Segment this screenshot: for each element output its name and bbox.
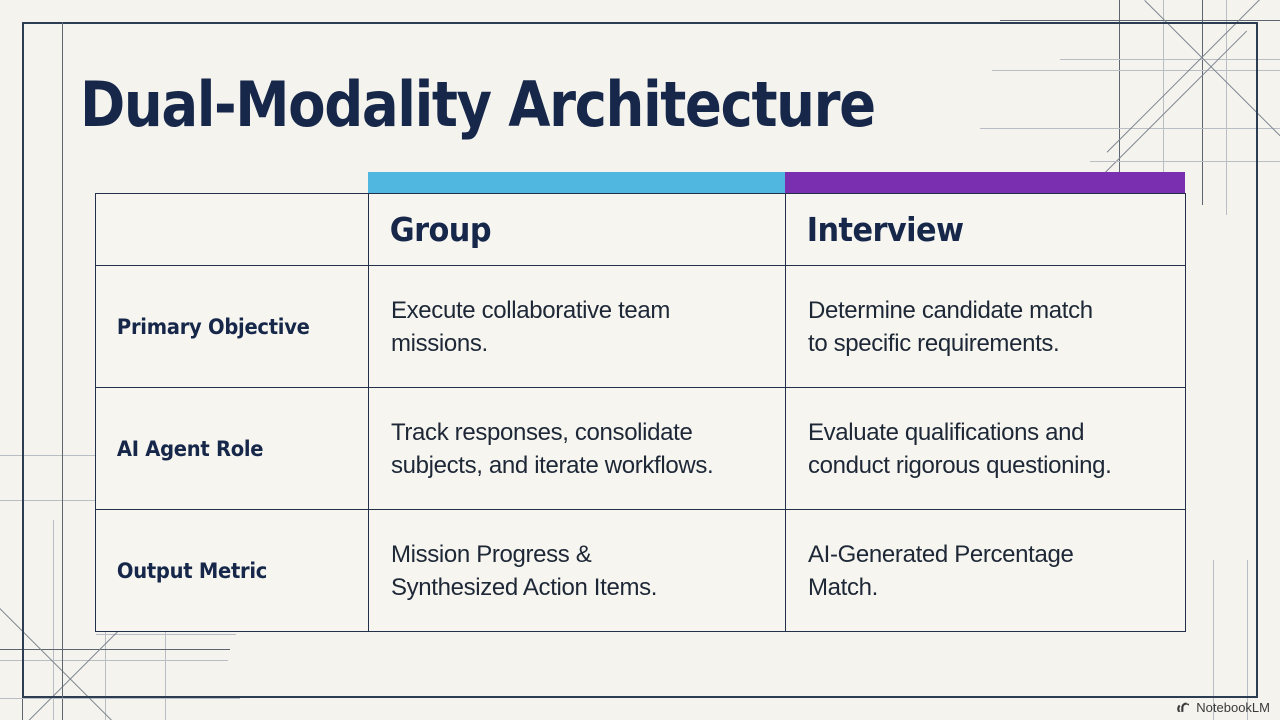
bp-line [0, 500, 96, 501]
accent-bar-interview [785, 172, 1185, 193]
bp-diagonal [1144, 0, 1280, 142]
bp-line [1247, 560, 1248, 720]
cell-line: conduct rigorous questioning. [808, 449, 1163, 482]
table-row: Output Metric Mission Progress & Synthes… [96, 510, 1186, 632]
bp-line [980, 128, 1280, 129]
bp-line [165, 630, 166, 720]
bp-diagonal [1107, 0, 1270, 153]
bp-line [0, 698, 240, 699]
cell-line: subjects, and iterate workflows. [391, 449, 763, 482]
cell-line: Execute collaborative team [391, 294, 763, 327]
table-row: Primary Objective Execute collaborative … [96, 266, 1186, 388]
bp-line [1226, 0, 1227, 215]
bp-diagonal [1105, 31, 1247, 173]
bp-line [1213, 560, 1214, 720]
cell-interview-output-metric: AI-Generated Percentage Match. [786, 510, 1186, 632]
cell-line: AI-Generated Percentage [808, 538, 1163, 571]
cell-line: Mission Progress & [391, 538, 763, 571]
bp-line [1119, 0, 1120, 200]
column-header-interview: Interview [786, 194, 1154, 266]
bp-line [0, 455, 96, 456]
watermark-label: NotebookLM [1196, 700, 1270, 715]
bp-line [992, 70, 1280, 71]
row-label-primary-objective: Primary Objective [96, 266, 350, 388]
bp-line [0, 660, 228, 661]
bp-line [1090, 161, 1280, 162]
cell-group-primary-objective: Execute collaborative team missions. [369, 266, 786, 388]
cell-interview-ai-agent-role: Evaluate qualifications and conduct rigo… [786, 388, 1186, 510]
bp-line [1000, 20, 1280, 21]
cell-line: Track responses, consolidate [391, 416, 763, 449]
page-title: Dual-Modality Architecture [80, 68, 875, 142]
cell-group-ai-agent-role: Track responses, consolidate subjects, a… [369, 388, 786, 510]
notebooklm-spiral-icon [1176, 700, 1191, 715]
comparison-table: Group Interview Primary Objective Execut… [95, 193, 1185, 630]
column-header-group: Group [369, 194, 753, 266]
cell-line: Determine candidate match [808, 294, 1163, 327]
bp-line [1060, 59, 1280, 60]
row-label-ai-agent-role: AI Agent Role [96, 388, 350, 510]
slide-canvas: Dual-Modality Architecture Group Intervi… [0, 0, 1280, 720]
row-label-output-metric: Output Metric [96, 510, 350, 632]
cell-line: Match. [808, 571, 1163, 604]
bp-line [22, 500, 23, 720]
watermark: NotebookLM [1176, 700, 1270, 715]
table-header-row: Group Interview [96, 194, 1186, 266]
bp-line [96, 634, 236, 635]
slide-frame-inner-rule [62, 22, 63, 698]
table-corner-cell [96, 194, 369, 266]
cell-interview-primary-objective: Determine candidate match to specific re… [786, 266, 1186, 388]
bp-line [53, 520, 54, 720]
cell-line: to specific requirements. [808, 327, 1163, 360]
bp-line [0, 649, 230, 650]
cell-group-output-metric: Mission Progress & Synthesized Action It… [369, 510, 786, 632]
cell-line: Evaluate qualifications and [808, 416, 1163, 449]
table-row: AI Agent Role Track responses, consolida… [96, 388, 1186, 510]
cell-line: missions. [391, 327, 763, 360]
accent-bar-group [368, 172, 785, 193]
cell-line: Synthesized Action Items. [391, 571, 763, 604]
bp-line [1202, 0, 1203, 205]
